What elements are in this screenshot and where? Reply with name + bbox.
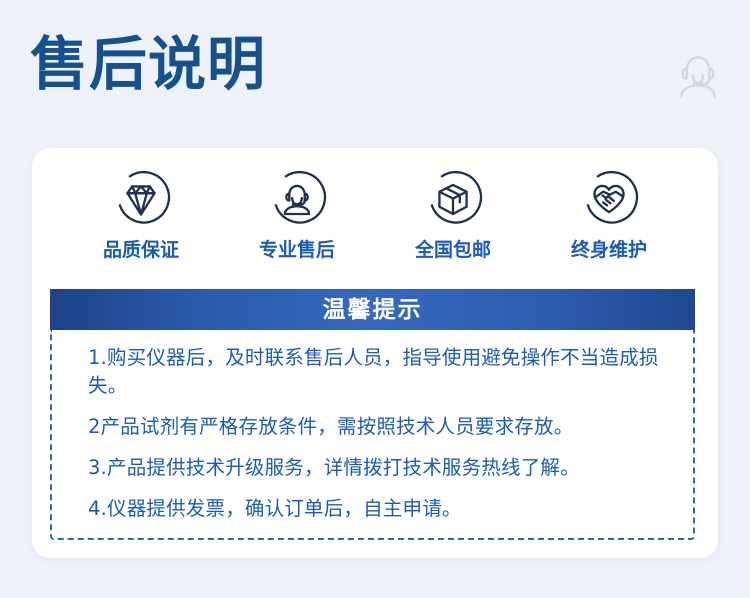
service-card: 品质保证 专业售后 <box>32 148 718 558</box>
diamond-icon <box>110 168 172 230</box>
headset-agent-icon <box>266 168 328 230</box>
feature-label: 品质保证 <box>103 238 179 262</box>
list-item: 4.仪器提供发票，确认订单后，自主申请。 <box>88 495 675 523</box>
page-title: 售后说明 <box>30 28 266 100</box>
feature-label: 专业售后 <box>259 238 335 262</box>
page-header: 售后说明 <box>0 0 750 148</box>
customer-service-agent-icon <box>670 46 726 102</box>
feature-item-quality[interactable]: 品质保证 <box>76 168 206 262</box>
tips-banner: 温馨提示 <box>50 289 695 330</box>
feature-label: 终身维护 <box>571 238 647 262</box>
handshake-heart-icon <box>578 168 640 230</box>
feature-item-lifetime-maintenance[interactable]: 终身维护 <box>544 168 674 262</box>
feature-label: 全国包邮 <box>415 238 491 262</box>
feature-row: 品质保证 专业售后 <box>32 168 718 262</box>
list-item: 3.产品提供技术升级服务，详情拨打技术服务热线了解。 <box>88 454 675 482</box>
feature-item-after-sales[interactable]: 专业售后 <box>232 168 362 262</box>
tips-list: 1.购买仪器后，及时联系售后人员，指导使用避免操作不当造成损失。 2产品试剂有严… <box>50 330 695 540</box>
feature-item-free-shipping[interactable]: 全国包邮 <box>388 168 518 262</box>
list-item: 1.购买仪器后，及时联系售后人员，指导使用避免操作不当造成损失。 <box>88 344 675 400</box>
list-item: 2产品试剂有严格存放条件，需按照技术人员要求存放。 <box>88 413 675 441</box>
tips-banner-label: 温馨提示 <box>323 296 423 324</box>
package-box-icon <box>422 168 484 230</box>
